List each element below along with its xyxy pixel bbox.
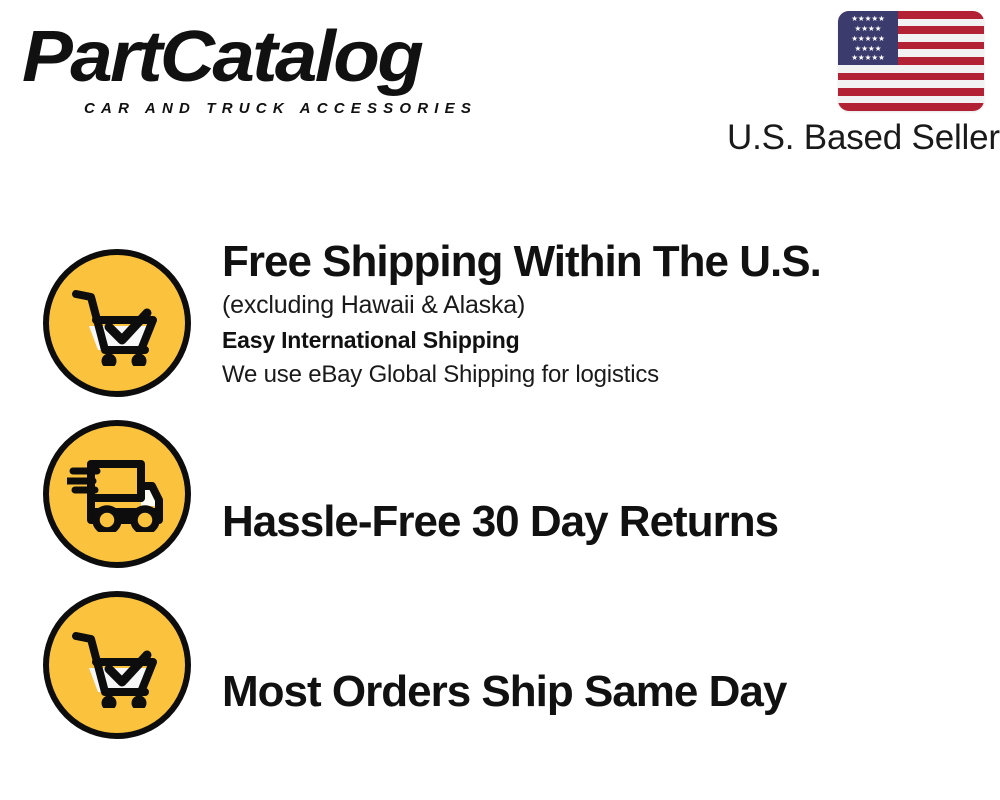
feature-row: Most Orders Ship Same Day [0,574,1000,745]
feature-title: Free Shipping Within The U.S. [222,236,982,288]
us-based-seller-label: U.S. Based Seller [727,117,984,159]
features-list: Free Shipping Within The U.S. (excluding… [0,232,1000,745]
feature-badge [43,591,191,739]
flag-star-row: ★★★★ [838,25,898,33]
flag-star-row: ★★★★★ [838,54,898,62]
delivery-truck-icon [67,456,167,532]
feature-sub-title: Easy International Shipping [222,322,982,358]
shopping-cart-check-icon [69,622,165,708]
flag-stripe [838,88,984,96]
flag-canton: ★★★★★ ★★★★ ★★★★★ ★★★★ ★★★★★ [838,11,898,65]
flag-stripe [838,73,984,81]
feature-badge [43,420,191,568]
feature-title: Most Orders Ship Same Day [222,666,982,718]
feature-text: Hassle-Free 30 Day Returns [222,496,982,548]
flag-stripe [838,65,984,73]
flag-star-row: ★★★★★ [838,35,898,43]
flag-stripe [838,96,984,104]
flag-star-row: ★★★★★ [838,15,898,23]
flag-star-row: ★★★★ [838,45,898,53]
feature-row: Free Shipping Within The U.S. (excluding… [0,232,1000,403]
feature-title: Hassle-Free 30 Day Returns [222,496,982,548]
flag-stripe [838,103,984,111]
brand-logo[interactable]: PartCatalog CAR AND TRUCK ACCESSORIES [22,14,492,114]
feature-badge [43,249,191,397]
feature-text: Most Orders Ship Same Day [222,666,982,718]
feature-note: (excluding Hawaii & Alaska) [222,288,982,322]
brand-wordmark: PartCatalog [22,14,421,100]
shopping-cart-check-icon [69,280,165,366]
header-bar: PartCatalog CAR AND TRUCK ACCESSORIES ★★… [0,0,1000,170]
feature-row: Hassle-Free 30 Day Returns [0,403,1000,574]
us-flag-icon: ★★★★★ ★★★★ ★★★★★ ★★★★ ★★★★★ [838,11,984,111]
brand-tagline: CAR AND TRUCK ACCESSORIES [84,100,477,117]
flag-stripe [838,80,984,88]
feature-text: Free Shipping Within The U.S. (excluding… [222,236,982,391]
feature-sub-note: We use eBay Global Shipping for logistic… [222,358,982,391]
